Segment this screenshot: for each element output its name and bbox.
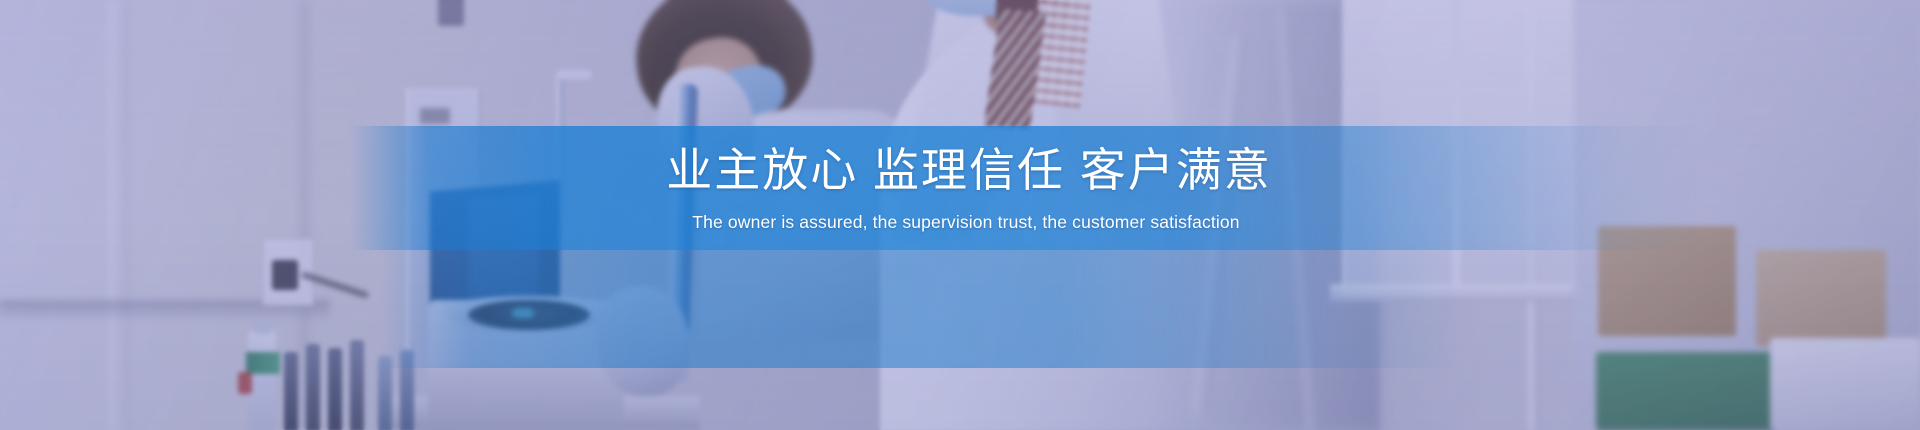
slogan-subtitle: The owner is assured, the supervision tr…	[680, 212, 1239, 233]
hero-banner: 业主放心 监理信任 客户满意 The owner is assured, the…	[0, 0, 1920, 430]
slogan-block: 业主放心 监理信任 客户满意 The owner is assured, the…	[0, 126, 1920, 250]
blue-overlay-band-lower	[0, 250, 1920, 368]
slogan-headline: 业主放心 监理信任 客户满意	[648, 143, 1272, 197]
